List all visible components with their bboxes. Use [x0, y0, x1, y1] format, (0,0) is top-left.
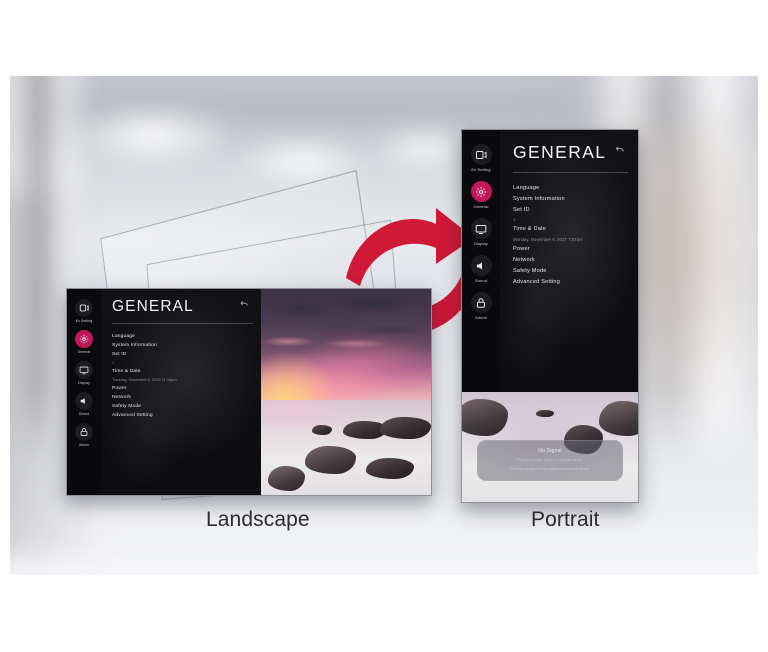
sidebar-item-sound[interactable]: Sound	[75, 392, 93, 416]
sidebar-item-label: Sound	[79, 412, 89, 416]
landscape-display[interactable]: Ez Setting General	[66, 288, 432, 496]
hero-image: Ez Setting General	[10, 76, 758, 575]
landscape-osd-body: GENERAL Language System Information Set …	[101, 289, 261, 495]
photo-rock	[599, 401, 638, 436]
sidebar-item-display[interactable]: Display	[75, 361, 93, 385]
menu-item-system-information[interactable]: System Information	[112, 341, 261, 350]
sidebar-item-label: General	[78, 350, 91, 354]
ez-setting-icon	[75, 299, 93, 317]
sidebar-item-label: Admin	[79, 443, 89, 447]
menu-value-time-and-date: Monday, November 6, 2017 7:57am	[513, 235, 638, 244]
sidebar-item-label: Display	[474, 241, 488, 246]
sidebar-item-admin[interactable]: Admin	[471, 292, 492, 320]
display-icon	[75, 361, 93, 379]
general-icon	[75, 330, 93, 348]
photo-rock	[462, 399, 508, 436]
photo-rock	[536, 410, 554, 418]
sidebar-item-label: Ez Setting	[76, 319, 92, 323]
caption-landscape: Landscape	[206, 508, 310, 532]
portrait-osd-sidebar: Ez Setting General	[462, 130, 500, 392]
sidebar-item-ez-setting[interactable]: Ez Setting	[471, 144, 492, 172]
menu-item-advanced-setting[interactable]: Advanced Setting	[112, 411, 261, 420]
menu-item-power[interactable]: Power	[112, 384, 261, 393]
no-signal-line-1: Press the power button on external devic…	[484, 457, 616, 463]
display-icon	[471, 218, 492, 239]
landscape-photo	[261, 289, 431, 495]
divider	[112, 323, 253, 324]
no-signal-dialog: No Signal Press the power button on exte…	[477, 440, 623, 481]
lock-icon	[471, 292, 492, 313]
portrait-menu-list: Language System Information Set ID 1 Tim…	[513, 183, 638, 287]
page-root: Ez Setting General	[0, 0, 768, 652]
photo-rock	[268, 466, 305, 491]
sound-icon	[75, 392, 93, 410]
menu-item-time-and-date[interactable]: Time & Date	[513, 224, 638, 235]
menu-item-network[interactable]: Network	[513, 255, 638, 266]
portrait-display[interactable]: Ez Setting General	[461, 129, 639, 503]
lock-icon	[75, 423, 93, 441]
menu-item-network[interactable]: Network	[112, 393, 261, 402]
menu-value-set-id: 1	[513, 215, 638, 224]
divider	[513, 172, 628, 173]
menu-item-system-information[interactable]: System Information	[513, 194, 638, 205]
portrait-osd: Ez Setting General	[462, 130, 638, 392]
sidebar-item-label: General	[474, 204, 489, 209]
menu-item-safety-mode[interactable]: Safety Mode	[513, 266, 638, 277]
sidebar-item-label: Ez Setting	[471, 167, 490, 172]
menu-value-time-and-date: Tuesday, December 6, 2016 11:18pm	[112, 376, 261, 384]
general-icon	[471, 181, 492, 202]
menu-item-set-id[interactable]: Set ID	[112, 350, 261, 359]
sidebar-item-label: Sound	[475, 278, 487, 283]
ez-setting-icon	[471, 144, 492, 165]
menu-value-set-id: 1	[112, 359, 261, 367]
no-signal-line-2: Change the input of the display or check…	[484, 466, 616, 472]
back-arrow-icon[interactable]	[239, 299, 249, 312]
sidebar-item-ez-setting[interactable]: Ez Setting	[75, 299, 93, 323]
portrait-osd-body: GENERAL Language System Information Set …	[500, 130, 638, 392]
sidebar-item-sound[interactable]: Sound	[471, 255, 492, 283]
sidebar-item-admin[interactable]: Admin	[75, 423, 93, 447]
sidebar-item-general[interactable]: General	[75, 330, 93, 354]
menu-item-time-and-date[interactable]: Time & Date	[112, 367, 261, 376]
curved-arrow-right-icon	[346, 208, 474, 286]
sidebar-item-general[interactable]: General	[471, 181, 492, 209]
no-signal-title: No Signal	[484, 448, 616, 454]
menu-item-language[interactable]: Language	[513, 183, 638, 194]
menu-item-language[interactable]: Language	[112, 332, 261, 341]
landscape-osd: Ez Setting General	[67, 289, 261, 495]
menu-item-advanced-setting[interactable]: Advanced Setting	[513, 277, 638, 288]
caption-portrait: Portrait	[531, 508, 600, 532]
landscape-menu-list: Language System Information Set ID 1 Tim…	[112, 332, 261, 420]
menu-item-safety-mode[interactable]: Safety Mode	[112, 402, 261, 411]
sidebar-item-label: Display	[78, 381, 90, 385]
sound-icon	[471, 255, 492, 276]
sidebar-item-label: Admin	[475, 315, 487, 320]
photo-rock	[305, 446, 356, 475]
sidebar-item-display[interactable]: Display	[471, 218, 492, 246]
menu-item-set-id[interactable]: Set ID	[513, 205, 638, 216]
portrait-photo: No Signal Press the power button on exte…	[462, 392, 638, 502]
photo-rock	[380, 417, 431, 440]
menu-item-power[interactable]: Power	[513, 244, 638, 255]
back-arrow-icon[interactable]	[614, 144, 625, 158]
photo-clouds	[261, 289, 431, 408]
landscape-osd-sidebar: Ez Setting General	[67, 289, 101, 495]
photo-rock	[366, 458, 414, 479]
